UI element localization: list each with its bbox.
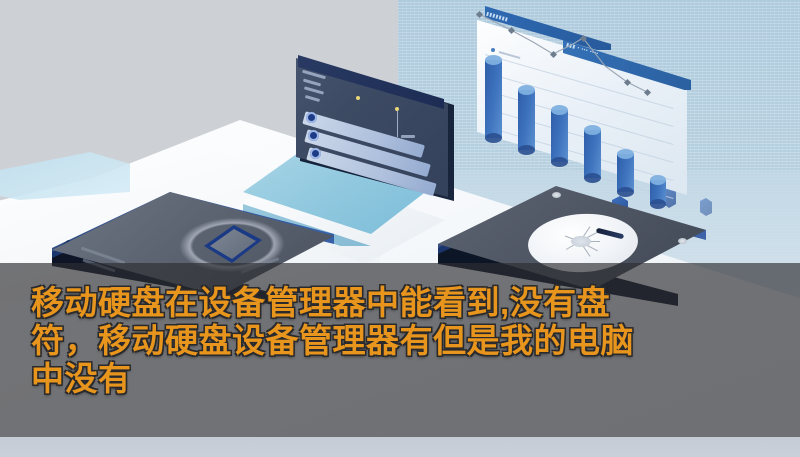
footer-strip (0, 437, 800, 457)
hard-drive-screw (552, 192, 561, 198)
chart-trend-line (455, 2, 700, 202)
caption-text: 移动硬盘在设备管理器中能看到,没有盘符，移动硬盘设备管理器有但是我的电脑中没有 (31, 284, 661, 398)
user-circle-icon (308, 130, 319, 141)
monitor-connector-line (397, 111, 398, 137)
user-circle-icon (310, 148, 321, 159)
monitor-tooltip-text (401, 135, 415, 138)
chart-panel: ▮▮▮▮▮▮▮ ▮▮▮ ▪ ▪▪▪ ▪▪▪▪ (455, 2, 700, 202)
hard-drive-screw (678, 238, 687, 244)
screenshot-canvas: ▮▮▮▮▮▮▮ ▮▮▮ ▪ ▪▪▪ ▪▪▪▪ (0, 0, 800, 457)
platter-spindle-hub (571, 236, 591, 247)
user-circle-icon (306, 112, 317, 123)
monitor-highlight-dot (356, 96, 360, 100)
laptop-monitor (268, 49, 458, 209)
